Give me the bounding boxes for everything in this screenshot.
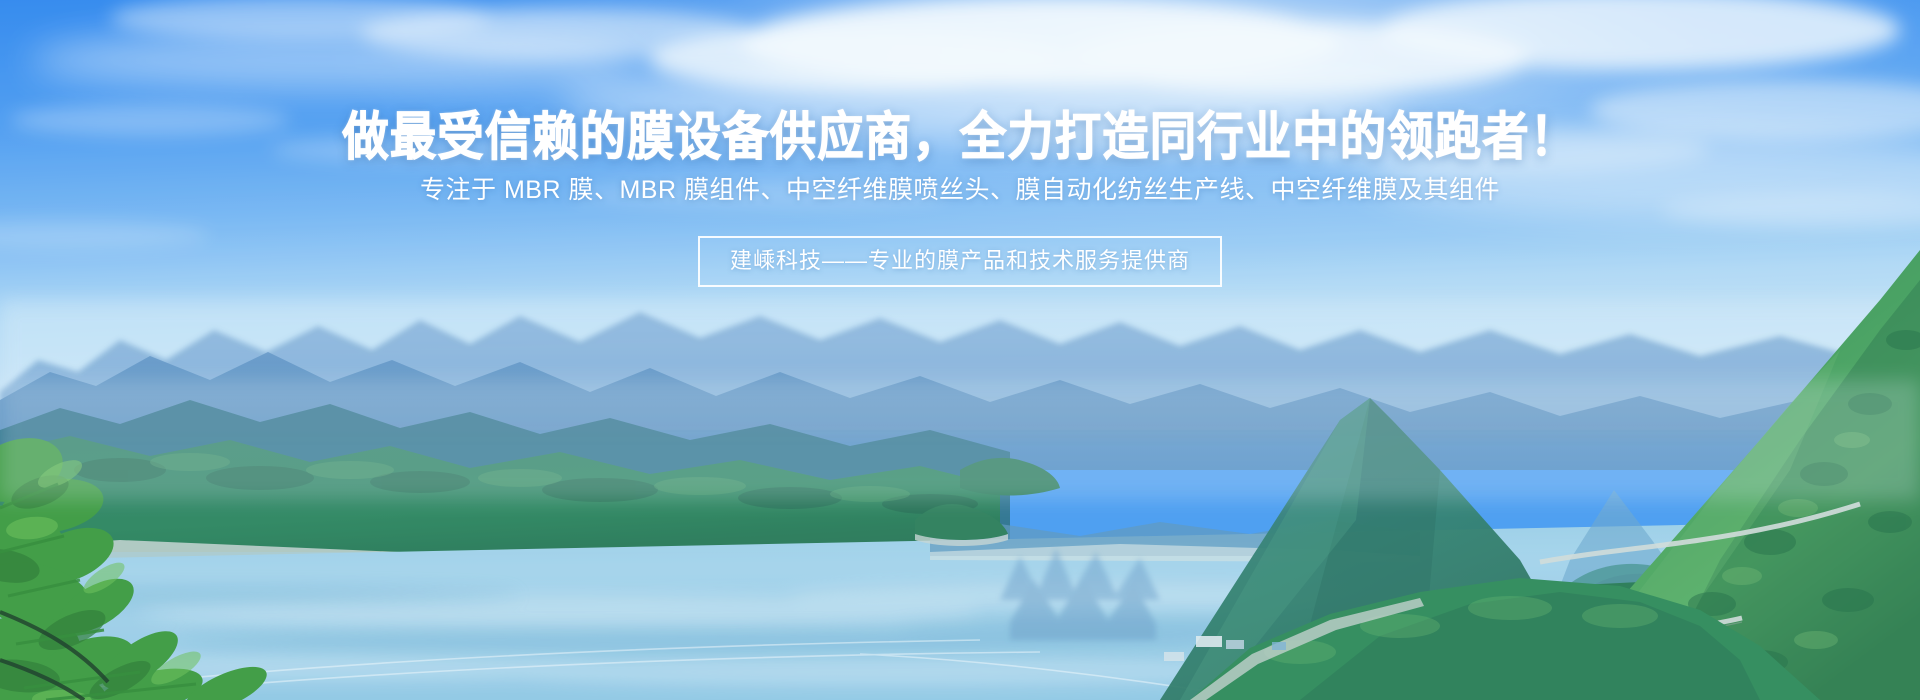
landscape-scene-image xyxy=(0,0,1920,700)
hero-banner: 做最受信赖的膜设备供应商，全力打造同行业中的领跑者！ 专注于 MBR 膜、MBR… xyxy=(0,0,1920,700)
